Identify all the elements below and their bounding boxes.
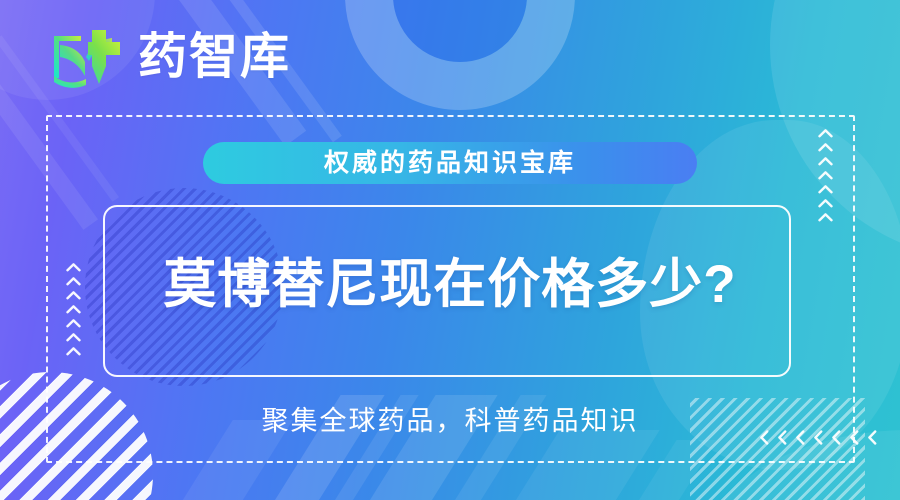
decorative-ring-inner	[393, 0, 527, 62]
chevron-icon	[66, 318, 81, 329]
brand-name-text: 药智库	[138, 33, 291, 82]
chevron-icon	[66, 332, 81, 343]
chevron-icon	[818, 128, 833, 139]
subtitle-pill-badge: 权威的药品知识宝库	[203, 142, 697, 184]
chevron-icon	[818, 212, 833, 223]
open-book-medical-cross-logo-icon	[48, 24, 126, 90]
chevron-column-right	[818, 128, 833, 223]
headline-title: 莫博替尼现在价格多少?	[0, 256, 900, 314]
chevron-icon	[818, 184, 833, 195]
brand-logo[interactable]: 药智库	[48, 24, 291, 90]
promo-banner: 药智库 权威的药品知识宝库 莫博替尼现在价格多少? 聚集全球药品，科普药品知识	[0, 0, 900, 500]
decorative-ring-top-center	[345, 0, 575, 110]
chevron-icon	[66, 346, 81, 357]
chevron-icon	[818, 156, 833, 167]
chevron-icon	[818, 170, 833, 181]
tagline-text: 聚集全球药品，科普药品知识	[0, 408, 900, 435]
subtitle-pill-text: 权威的药品知识宝库	[324, 151, 576, 176]
chevron-icon	[818, 142, 833, 153]
chevron-icon	[818, 198, 833, 209]
